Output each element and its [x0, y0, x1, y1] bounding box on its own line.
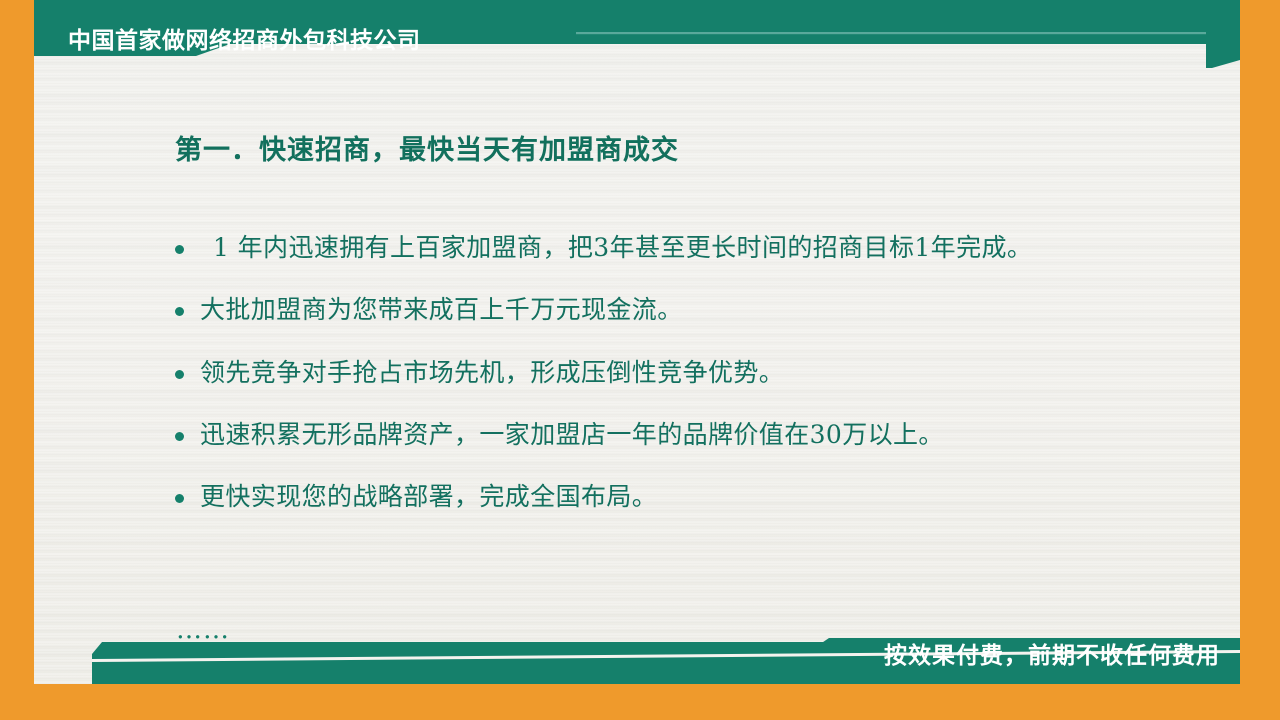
header-rule	[576, 32, 1206, 34]
slide-canvas: 中国首家做网络招商外包科技公司 第一．快速招商，最快当天有加盟商成交 1 年内迅…	[34, 0, 1240, 684]
list-item: 领先竞争对手抢占市场先机，形成压倒性竞争优势。	[175, 357, 1255, 388]
list-item-label: 领先竞争对手抢占市场先机，形成压倒性竞争优势。	[200, 357, 1255, 388]
ellipsis-text: ……	[176, 617, 230, 643]
list-item-label: 1 年内迅速拥有上百家加盟商，把3年甚至更长时间的招商目标1年完成。	[200, 232, 1255, 263]
bullet-dot-icon	[175, 494, 184, 503]
bullet-dot-icon	[175, 307, 184, 316]
list-item: 更快实现您的战略部署，完成全国布局。	[175, 481, 1255, 512]
bullet-dot-icon	[175, 432, 184, 441]
bullet-dot-icon	[175, 370, 184, 379]
bullet-dot-icon	[175, 245, 184, 254]
list-item: 迅速积累无形品牌资产，一家加盟店一年的品牌价值在30万以上。	[175, 419, 1255, 450]
footer-tagline: 按效果付费，前期不收任何费用	[884, 645, 1220, 668]
slide-root: 中国首家做网络招商外包科技公司 第一．快速招商，最快当天有加盟商成交 1 年内迅…	[0, 0, 1280, 720]
page-title: 第一．快速招商，最快当天有加盟商成交	[175, 135, 679, 167]
list-item-label: 迅速积累无形品牌资产，一家加盟店一年的品牌价值在30万以上。	[200, 419, 1255, 450]
list-item-label: 更快实现您的战略部署，完成全国布局。	[200, 481, 1255, 512]
list-item-label: 大批加盟商为您带来成百上千万元现金流。	[200, 294, 1255, 325]
bullet-list: 1 年内迅速拥有上百家加盟商，把3年甚至更长时间的招商目标1年完成。 大批加盟商…	[175, 232, 1255, 543]
list-item: 1 年内迅速拥有上百家加盟商，把3年甚至更长时间的招商目标1年完成。	[175, 232, 1255, 263]
header-title: 中国首家做网络招商外包科技公司	[68, 30, 421, 53]
list-item: 大批加盟商为您带来成百上千万元现金流。	[175, 294, 1255, 325]
